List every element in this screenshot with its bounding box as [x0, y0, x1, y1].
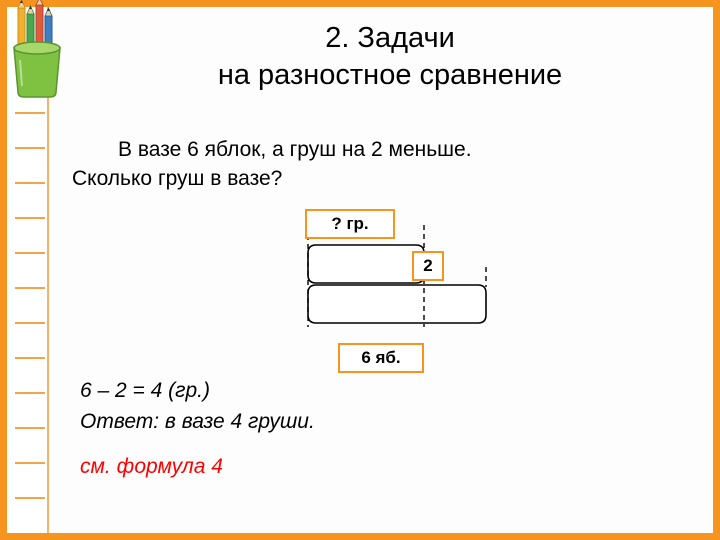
frame-top-border — [0, 0, 720, 7]
solution-answer: Ответ: в вазе 4 груши. — [80, 406, 315, 437]
bar-top — [308, 245, 424, 283]
frame-bottom-border — [0, 533, 720, 540]
label-difference: 2 — [412, 251, 444, 281]
label-unknown-pears: ? гр. — [305, 209, 395, 239]
title-line-1: 2. Задачи — [90, 20, 690, 57]
title-line-2: на разностное сравнение — [90, 57, 690, 94]
pencil-cup-icon — [6, 0, 70, 100]
bar-bottom — [308, 285, 486, 323]
formula-note: см. формула 4 — [80, 455, 223, 479]
solution-text: 6 – 2 = 4 (гр.) Ответ: в вазе 4 груши. — [80, 375, 315, 437]
frame-right-border — [713, 0, 720, 540]
solution-expression: 6 – 2 = 4 (гр.) — [80, 375, 315, 406]
page-title: 2. Задачи на разностное сравнение — [90, 20, 690, 94]
problem-line-1: В вазе 6 яблок, а груш на 2 меньше. — [118, 138, 472, 161]
problem-line-2: Сколько груш в вазе? — [72, 167, 282, 190]
slide: 2. Задачи на разностное сравнение В вазе… — [0, 0, 720, 540]
problem-text: В вазе 6 яблок, а груш на 2 меньше. Скол… — [72, 135, 672, 193]
label-apples: 6 яб. — [338, 343, 424, 373]
bar-model-diagram: ? гр. 2 6 яб. — [290, 205, 510, 380]
